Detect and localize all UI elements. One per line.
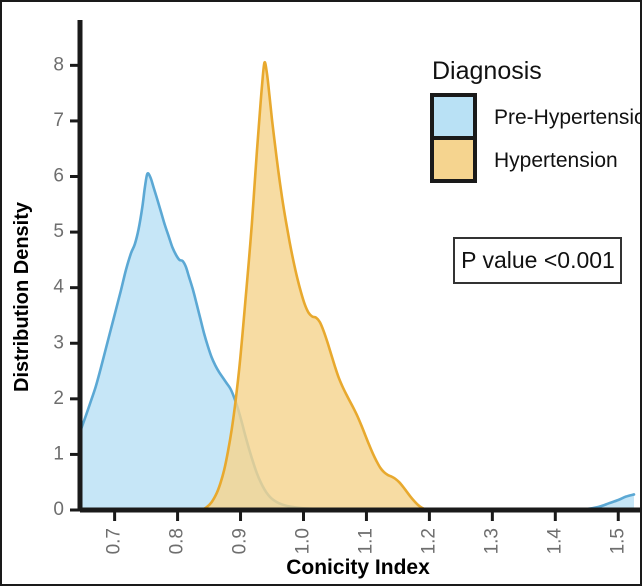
- x-tick-label-8: 1.5: [607, 528, 628, 554]
- density-curve-hypertension: [202, 62, 429, 510]
- y-tick-label-3: 3: [53, 332, 64, 353]
- x-tick-label-0: 0.7: [104, 528, 125, 554]
- chart-canvas: 0.70.80.91.01.11.21.31.41.5 012345678 Di…: [2, 2, 642, 586]
- y-tick-label-7: 7: [53, 110, 64, 131]
- y-tick-label-1: 1: [53, 443, 64, 464]
- legend-swatch-hypertension[interactable]: [432, 138, 475, 181]
- density-plot-figure: 0.70.80.91.01.11.21.31.41.5 012345678 Di…: [0, 0, 642, 586]
- x-tick-labels: 0.70.80.91.01.11.21.31.41.5: [104, 510, 629, 554]
- y-tick-label-6: 6: [53, 166, 64, 187]
- legend-title: Diagnosis: [432, 57, 542, 85]
- x-tick-label-3: 1.0: [293, 528, 314, 554]
- legend-swatch-pre-hypertension[interactable]: [432, 95, 475, 138]
- y-tick-label-5: 5: [53, 221, 64, 242]
- x-tick-label-7: 1.4: [544, 528, 565, 555]
- p-value-text: P value <0.001: [461, 247, 615, 273]
- legend: Diagnosis Pre-Hypertension Hypertension: [432, 57, 642, 181]
- x-tick-label-5: 1.2: [418, 528, 439, 554]
- density-curves-layer: [80, 62, 634, 510]
- y-tick-label-0: 0: [53, 499, 64, 520]
- y-tick-label-4: 4: [53, 277, 64, 298]
- x-axis-title: Conicity Index: [286, 556, 430, 579]
- x-tick-label-2: 0.9: [230, 528, 251, 554]
- y-tick-labels: 012345678: [53, 54, 80, 520]
- y-tick-label-8: 8: [53, 54, 64, 75]
- x-tick-label-6: 1.3: [481, 528, 502, 554]
- x-tick-label-4: 1.1: [355, 528, 376, 554]
- y-axis-title: Distribution Density: [11, 201, 33, 392]
- p-value-annotation: P value <0.001: [454, 238, 621, 283]
- legend-label-hypertension: Hypertension: [494, 149, 618, 172]
- x-tick-label-1: 0.8: [167, 528, 188, 554]
- density-area-1: [202, 62, 429, 510]
- legend-label-pre-hypertension: Pre-Hypertension: [494, 106, 642, 129]
- y-tick-label-2: 2: [53, 388, 64, 409]
